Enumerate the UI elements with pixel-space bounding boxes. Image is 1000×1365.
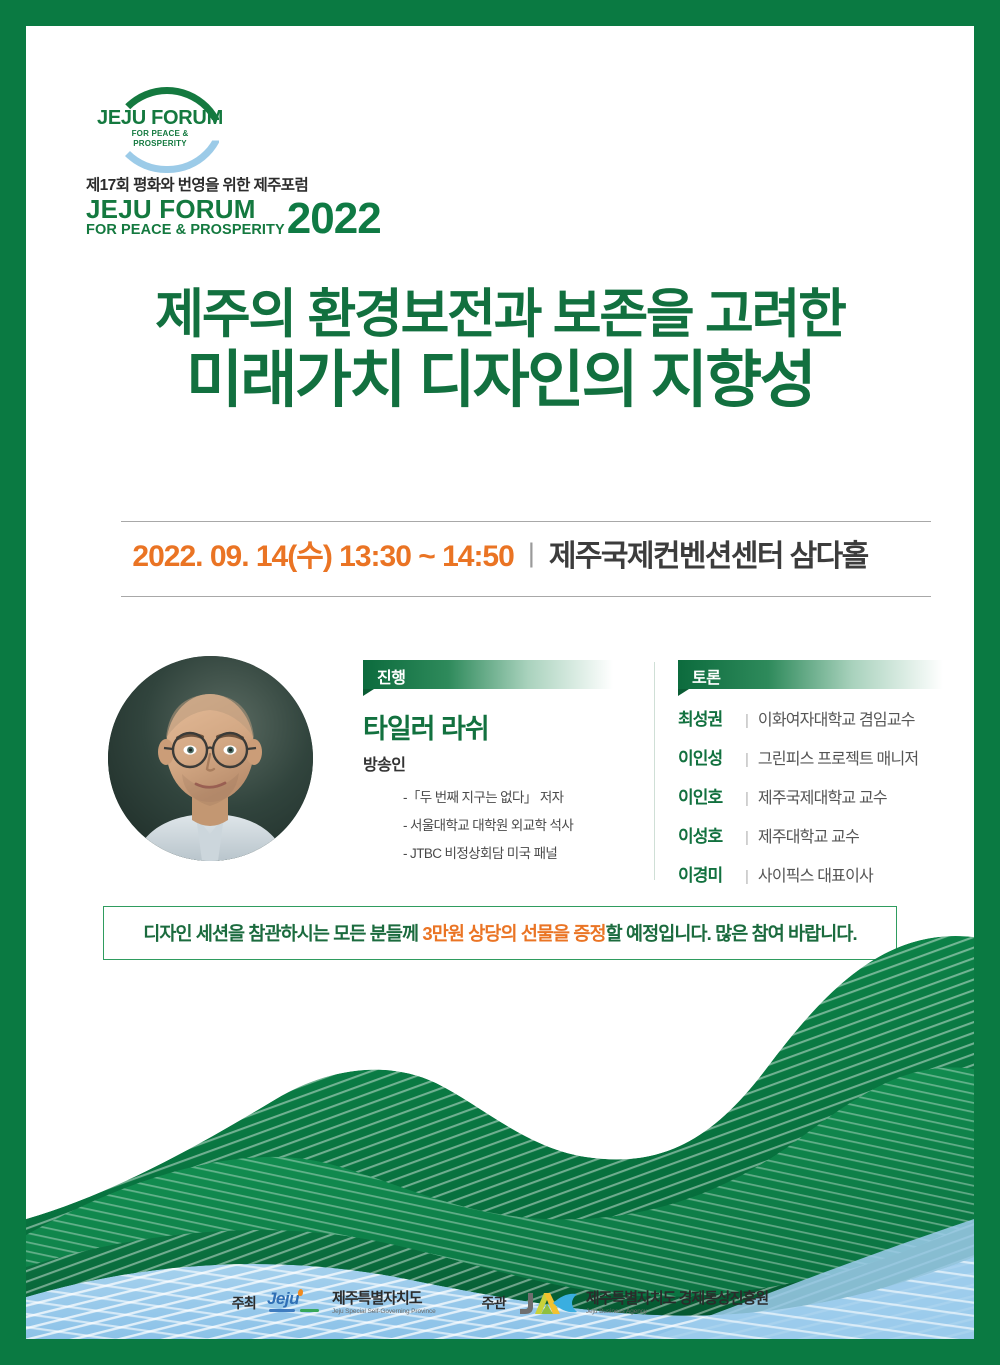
poster-root: JEJU FORUM FOR PEACE & PROSPERITY 제17회 평… (0, 0, 1000, 1365)
panel-member-affiliation: 그린피스 프로젝트 매니저 (758, 745, 918, 769)
schedule-bar: 2022. 09. 14(수) 13:30 ~ 14:50 | 제주국제컨벤션센… (26, 531, 974, 575)
moderator-bio-item: - JTBC 비정상회담 미국 패널 (403, 847, 613, 862)
title-line-2: 미래가치 디자인의 지향성 (26, 345, 974, 417)
schedule-rule-top (121, 521, 931, 522)
jeju-forum-emblem-icon: JEJU FORUM FOR PEACE & PROSPERITY (86, 81, 234, 161)
mountain-wave-illustration (26, 919, 974, 1339)
moderator-badge: 진행 (363, 660, 613, 689)
panel-member-affiliation: 이화여자대학교 겸임교수 (758, 706, 915, 730)
organizer-organization: 주관 제주특별자치도 경제통상진흥원 Jeju Business (482, 1289, 769, 1317)
schedule-date: 2022. 09. 14(수) 13:30 ~ 14:50 (132, 531, 513, 575)
panel-member-name: 이경미 (678, 861, 736, 886)
panel-member-separator: | (745, 829, 749, 846)
schedule-venue: 제주국제컨벤션센터 삼다홀 (549, 531, 868, 575)
host-name-english: Jeju Special Self-Governing Province (332, 1308, 436, 1315)
host-organization: 주최 Jeju 제주특별자치도 Jeju Special Self-Govern… (232, 1290, 436, 1316)
moderator-role: 방송인 (363, 751, 613, 775)
panel-badge: 토론 (678, 660, 943, 689)
panel-member-row: 이인호 | 제주국제대학교 교수 (678, 783, 943, 808)
panel-member-affiliation: 제주국제대학교 교수 (758, 784, 887, 808)
jba-logo-icon: 제주특별자치도 경제통상진흥원 Jeju Business Agency (517, 1289, 768, 1317)
moderator-bio-list: -「두 번째 지구는 없다」 저자 - 서울대학교 대학원 외교학 석사 - J… (363, 791, 613, 862)
panel-member-separator: | (745, 868, 749, 885)
jeju-green-dash-icon (300, 1309, 319, 1312)
panel-member-row: 이성호 | 제주대학교 교수 (678, 822, 943, 847)
moderator-bio-item: -「두 번째 지구는 없다」 저자 (403, 791, 613, 806)
host-role-label: 주최 (232, 1293, 256, 1313)
footer-organizations: 주최 Jeju 제주특별자치도 Jeju Special Self-Govern… (26, 1289, 974, 1317)
emblem-tagline-line2: PROSPERITY (86, 139, 234, 149)
organizer-name-korean: 제주특별자치도 경제통상진흥원 (586, 1291, 768, 1308)
organizer-name-block: 제주특별자치도 경제통상진흥원 Jeju Business Agency (586, 1291, 768, 1316)
forum-english-line2: FOR PEACE & PROSPERITY (86, 223, 285, 238)
panel-member-row: 이경미 | 사이픽스 대표이사 (678, 861, 943, 886)
emblem-tagline: FOR PEACE & PROSPERITY (86, 129, 234, 149)
panel-member-separator: | (745, 790, 749, 807)
emblem-wordmark: JEJU FORUM (86, 107, 234, 130)
schedule-rule-bottom (121, 596, 931, 597)
jeju-wordmark-text: Jeju (267, 1290, 325, 1307)
page-title: 제주의 환경보전과 보존을 고려한 미래가치 디자인의 지향성 (26, 284, 974, 417)
panel-member-separator: | (745, 712, 749, 729)
panel-member-separator: | (745, 751, 749, 768)
forum-logo-lockup: JEJU FORUM FOR PEACE & PROSPERITY 제17회 평… (86, 81, 426, 238)
panel-member-affiliation: 사이픽스 대표이사 (758, 862, 873, 886)
poster-canvas: JEJU FORUM FOR PEACE & PROSPERITY 제17회 평… (26, 26, 974, 1339)
forum-year: 2022 (287, 201, 381, 237)
panel-member-name: 이인성 (678, 744, 736, 769)
jba-symbol-icon (517, 1289, 579, 1317)
panel-block: 토론 최성권 | 이화여자대학교 겸임교수 이인성 | 그린피스 프로젝트 매니… (678, 660, 943, 900)
moderator-name: 타일러 라쉬 (363, 707, 613, 746)
panel-member-affiliation: 제주대학교 교수 (758, 823, 859, 847)
moderator-bio-item: - 서울대학교 대학원 외교학 석사 (403, 819, 613, 834)
panel-member-name: 이인호 (678, 783, 736, 808)
jeju-wordmark-icon: Jeju (267, 1290, 325, 1316)
jeju-blue-dash-icon (269, 1309, 295, 1312)
jeju-province-logo-icon: Jeju 제주특별자치도 Jeju Special Self-Governing… (267, 1290, 436, 1316)
panel-member-name: 최성권 (678, 705, 736, 730)
title-line-1: 제주의 환경보전과 보존을 고려한 (26, 284, 974, 345)
moderator-avatar (108, 656, 313, 861)
host-name-korean: 제주특별자치도 (332, 1291, 436, 1308)
panel-member-name: 이성호 (678, 822, 736, 847)
moderator-badge-label: 진행 (377, 664, 405, 688)
organizer-role-label: 주관 (482, 1293, 506, 1313)
forum-english-text: JEJU FORUM FOR PEACE & PROSPERITY (86, 196, 285, 238)
host-name-block: 제주특별자치도 Jeju Special Self-Governing Prov… (332, 1291, 436, 1316)
panel-member-row: 이인성 | 그린피스 프로젝트 매니저 (678, 744, 943, 769)
forum-english-lockup: JEJU FORUM FOR PEACE & PROSPERITY 2022 (86, 196, 426, 238)
panel-badge-label: 토론 (692, 664, 720, 688)
panel-member-row: 최성권 | 이화여자대학교 겸임교수 (678, 705, 943, 730)
speakers-divider (654, 662, 655, 880)
forum-english-line1: JEJU FORUM (86, 196, 285, 222)
moderator-block: 진행 타일러 라쉬 방송인 -「두 번째 지구는 없다」 저자 - 서울대학교 … (363, 660, 613, 878)
emblem-tagline-line1: FOR PEACE & (86, 129, 234, 139)
organizer-name-english: Jeju Business Agency (586, 1308, 768, 1315)
panel-member-list: 최성권 | 이화여자대학교 겸임교수 이인성 | 그린피스 프로젝트 매니저 이… (678, 705, 943, 886)
speakers-section: 진행 타일러 라쉬 방송인 -「두 번째 지구는 없다」 저자 - 서울대학교 … (26, 656, 974, 891)
forum-edition-korean: 제17회 평화와 번영을 위한 제주포럼 (86, 173, 426, 195)
schedule-separator: | (528, 538, 535, 569)
